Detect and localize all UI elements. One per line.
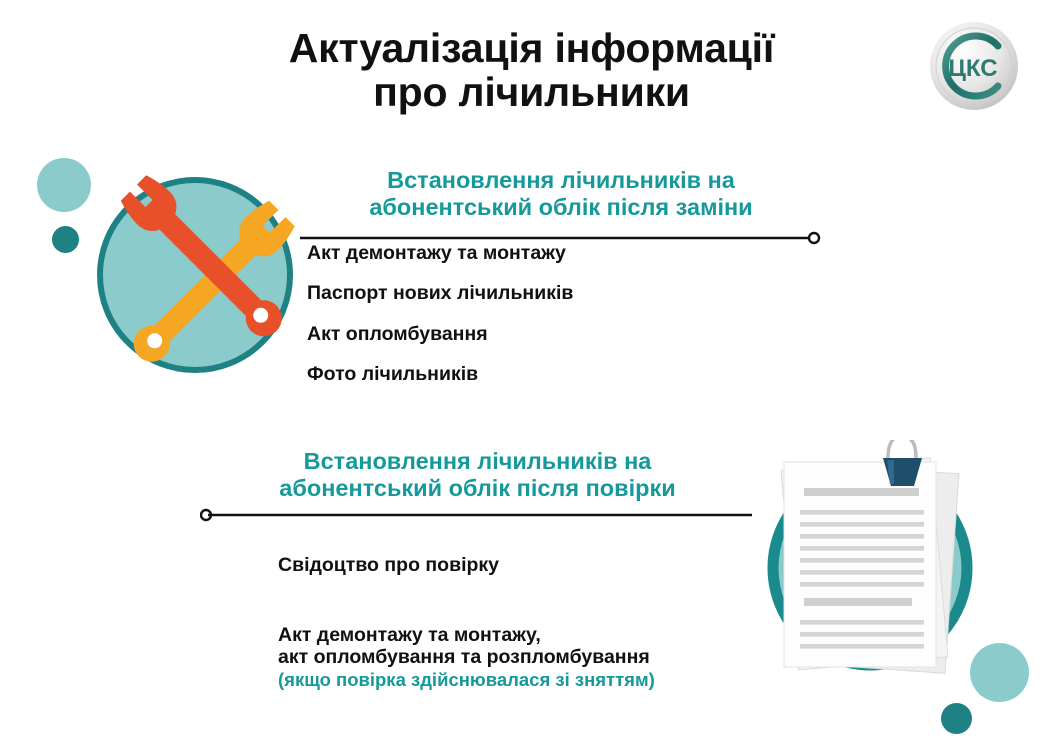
list-item: Акт демонтажу та монтажу, акт опломбуван… [278, 601, 778, 713]
list-item: Фото лічильників [278, 738, 778, 755]
decorative-circle-top-left-large [37, 158, 91, 212]
list-item-note: (якщо повірка здійснювалася зі зняттям) [278, 669, 778, 691]
company-logo: ЦКС [928, 20, 1020, 112]
list-item: Свідоцтво про повірку [278, 531, 778, 576]
crossed-wrenches-icon [84, 164, 306, 386]
logo-letters: ЦКС [948, 55, 997, 82]
section-rule-after-verification [200, 508, 752, 522]
requirement-list-after-replacement: Акт демонтажу та монтажу Паспорт нових л… [307, 242, 777, 404]
section-heading-after-replacement: Встановлення лічильників на абонентський… [300, 167, 822, 222]
list-item: Акт опломбування [307, 323, 777, 345]
list-item: Фото лічильників [307, 363, 777, 385]
list-item: Паспорт нових лічильників [307, 282, 777, 304]
page-title: Актуалізація інформації про лічильники [0, 26, 1063, 115]
list-item-text: Свідоцтво про повірку [278, 554, 499, 576]
list-item-text: Акт демонтажу та монтажу, акт опломбуван… [278, 624, 650, 669]
list-item: Акт демонтажу та монтажу [307, 242, 777, 264]
stacked-documents-icon [742, 440, 1004, 695]
section-heading-after-verification: Встановлення лічильників на абонентський… [205, 448, 750, 503]
decorative-circle-bottom-right-small [941, 703, 972, 734]
slide-canvas: Актуалізація інформації про лічильники Ц… [0, 0, 1063, 755]
requirement-list-after-verification: Свідоцтво про повірку Акт демонтажу та м… [278, 531, 778, 755]
decorative-circle-top-left-small [52, 226, 79, 253]
